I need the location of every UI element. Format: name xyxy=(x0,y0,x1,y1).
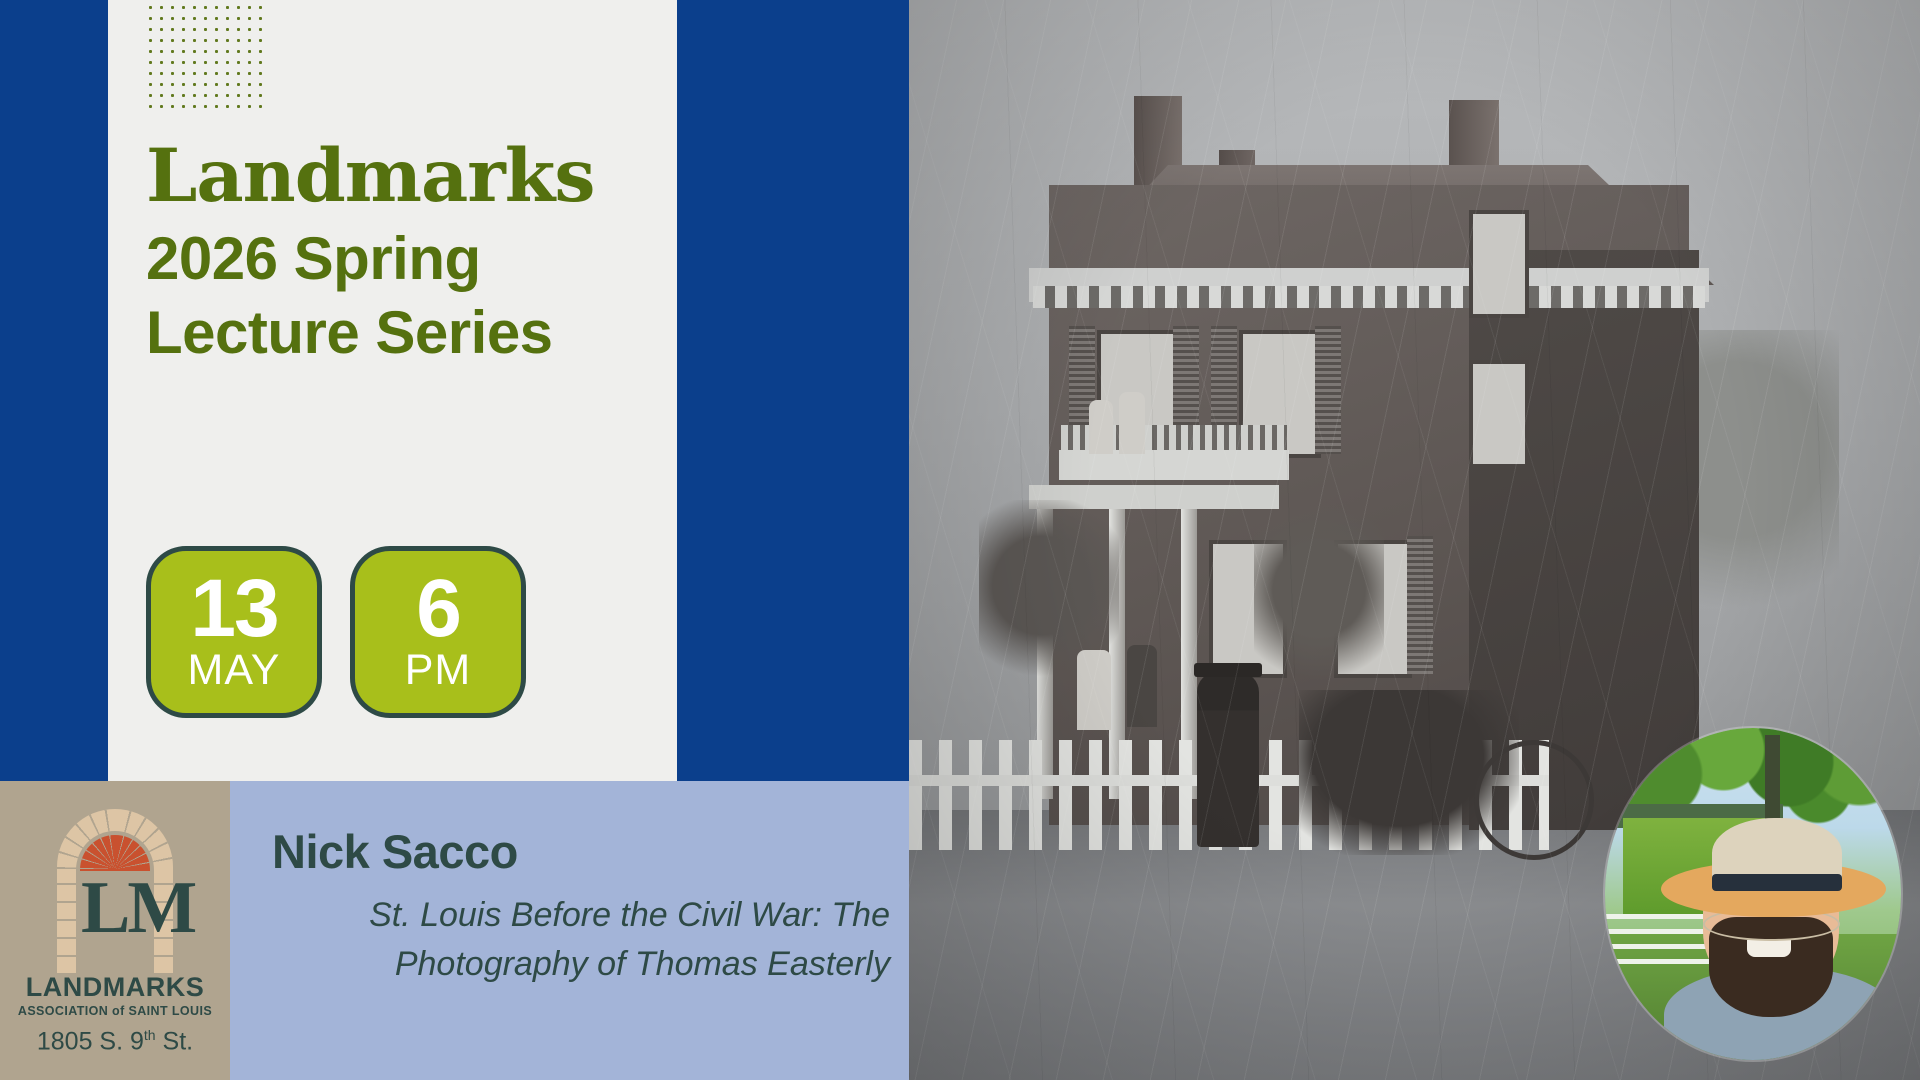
date-badge-day: 13 xyxy=(190,571,277,646)
lecture-title: St. Louis Before the Civil War: The Phot… xyxy=(250,891,896,990)
logo-subtitle: ASSOCIATION of SAINT LOUIS xyxy=(18,1004,212,1018)
page-title: Landmarks 2026 Spring Lecture Series xyxy=(146,140,666,377)
time-badge-hour: 6 xyxy=(416,571,460,646)
address-suffix: St. xyxy=(156,1027,194,1055)
headshot-hat-band xyxy=(1712,874,1842,891)
lecture-announcement-poster: Landmarks 2026 Spring Lecture Series 13 … xyxy=(0,0,1920,1080)
dot-pattern-decoration xyxy=(143,0,269,110)
date-badge: 13 MAY xyxy=(146,546,322,718)
logo-address: 1805 S. 9th St. xyxy=(37,1027,193,1056)
speaker-headshot-avatar xyxy=(1605,728,1901,1060)
headline-line-3: Lecture Series xyxy=(146,303,666,363)
mid-blue-accent-bar xyxy=(677,0,909,781)
landmarks-logo-block: LM LANDMARKS ASSOCIATION of SAINT LOUIS … xyxy=(0,781,230,1080)
headshot-smile xyxy=(1747,940,1791,957)
logo-wordmark: LANDMARKS xyxy=(26,972,204,1003)
lecture-title-line-2: Photography of Thomas Easterly xyxy=(250,940,890,989)
date-badge-month: MAY xyxy=(188,648,281,693)
lm-monogram: LM xyxy=(81,869,149,953)
time-badge-meridiem: PM xyxy=(405,648,472,693)
time-badge: 6 PM xyxy=(350,546,526,718)
speaker-info-bar: Nick Sacco St. Louis Before the Civil Wa… xyxy=(230,781,909,1080)
address-number: 1805 S. 9 xyxy=(37,1027,144,1055)
landmarks-arch-logo-icon: LM xyxy=(35,791,195,976)
lecture-title-line-1: St. Louis Before the Civil War: The xyxy=(250,891,890,940)
left-blue-accent-bar xyxy=(0,0,108,781)
headline-line-2: 2026 Spring xyxy=(146,229,666,289)
headline-line-1: Landmarks xyxy=(146,140,666,213)
address-ordinal: th xyxy=(144,1027,156,1043)
event-badges: 13 MAY 6 PM xyxy=(146,546,526,718)
speaker-name: Nick Sacco xyxy=(272,824,518,879)
